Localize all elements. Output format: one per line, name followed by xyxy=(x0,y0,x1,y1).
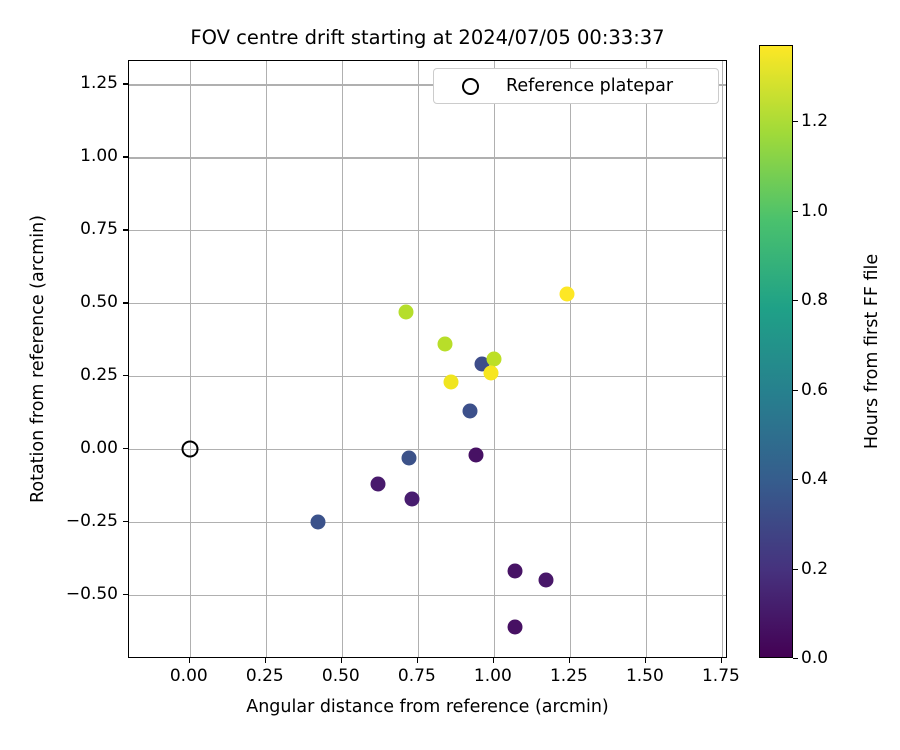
page-title: FOV centre drift starting at 2024/07/05 … xyxy=(128,26,727,49)
scatter-point xyxy=(444,374,459,389)
scatter-chart-figure: FOV centre drift starting at 2024/07/05 … xyxy=(0,0,900,750)
scatter-point xyxy=(438,336,453,351)
x-tick-label: 1.00 xyxy=(474,666,512,686)
x-tick-label: 0.25 xyxy=(246,666,284,686)
x-axis-label: Angular distance from reference (arcmin) xyxy=(128,697,727,717)
x-tick-mark xyxy=(569,658,570,663)
x-tick-mark xyxy=(721,658,722,663)
legend: Reference platepar xyxy=(433,68,719,104)
scatter-point xyxy=(398,304,413,319)
y-axis-label: Rotation from reference (arcmin) xyxy=(26,60,50,658)
x-tick-label: 0.00 xyxy=(170,666,208,686)
y-tick-mark xyxy=(123,83,128,84)
gridlines xyxy=(129,61,726,657)
y-tick-mark xyxy=(123,302,128,303)
y-tick-label: 0.50 xyxy=(80,292,118,312)
scatter-point xyxy=(508,564,523,579)
scatter-point xyxy=(559,287,574,302)
gridline-horizontal xyxy=(129,449,726,450)
gridline-horizontal xyxy=(129,522,726,523)
x-tick-label: 0.75 xyxy=(398,666,436,686)
scatter-point xyxy=(401,450,416,465)
scatter-point xyxy=(404,491,419,506)
scatter-point xyxy=(462,404,477,419)
colorbar-label: Hours from first FF file xyxy=(860,45,884,658)
scatter-point xyxy=(310,514,325,529)
gridline-vertical xyxy=(342,61,343,657)
y-tick-mark xyxy=(123,229,128,230)
x-tick-mark xyxy=(417,658,418,663)
y-tick-mark xyxy=(123,448,128,449)
x-tick-label: 1.75 xyxy=(702,666,740,686)
scatter-point xyxy=(508,619,523,634)
x-tick-label: 1.25 xyxy=(550,666,588,686)
scatter-point xyxy=(371,476,386,491)
colorbar-tick-mark xyxy=(793,569,798,570)
reference-platepar-marker xyxy=(181,440,198,457)
y-tick-label: 1.00 xyxy=(80,146,118,166)
y-tick-mark xyxy=(123,521,128,522)
x-tick-mark xyxy=(645,658,646,663)
scatter-point xyxy=(486,351,501,366)
gridline-vertical xyxy=(570,61,571,657)
colorbar-tick-mark xyxy=(793,121,798,122)
gridline-horizontal xyxy=(129,376,726,377)
open-circle-icon xyxy=(462,78,479,95)
x-tick-mark xyxy=(493,658,494,663)
x-tick-mark xyxy=(265,658,266,663)
colorbar-tick-mark xyxy=(793,658,798,659)
colorbar-tick-mark xyxy=(793,390,798,391)
plot-area xyxy=(128,60,727,658)
gridline-horizontal xyxy=(129,230,726,231)
colorbar xyxy=(759,45,793,658)
legend-item-label: Reference platepar xyxy=(506,76,673,96)
colorbar-tick-label: 0.6 xyxy=(801,380,828,400)
colorbar-tick-label: 0.0 xyxy=(801,648,828,668)
scatter-point xyxy=(468,447,483,462)
colorbar-tick-label: 1.0 xyxy=(801,201,828,221)
colorbar-tick-mark xyxy=(793,479,798,480)
colorbar-tick-label: 0.2 xyxy=(801,559,828,579)
gridline-horizontal xyxy=(129,157,726,158)
legend-marker-cell xyxy=(434,78,506,95)
y-tick-label: 0.00 xyxy=(80,438,118,458)
scatter-point xyxy=(538,573,553,588)
y-tick-label: −0.25 xyxy=(66,511,118,531)
gridline-vertical xyxy=(190,61,191,657)
gridline-vertical xyxy=(266,61,267,657)
y-tick-mark xyxy=(123,594,128,595)
gridline-vertical xyxy=(646,61,647,657)
x-tick-mark xyxy=(189,658,190,663)
colorbar-tick-mark xyxy=(793,300,798,301)
colorbar-tick-label: 1.2 xyxy=(801,111,828,131)
y-tick-mark xyxy=(123,375,128,376)
colorbar-tick-label: 0.8 xyxy=(801,290,828,310)
colorbar-tick-mark xyxy=(793,211,798,212)
x-tick-mark xyxy=(341,658,342,663)
y-tick-label: −0.50 xyxy=(66,584,118,604)
colorbar-tick-label: 0.4 xyxy=(801,469,828,489)
gridline-horizontal xyxy=(129,595,726,596)
gridline-vertical xyxy=(722,61,723,657)
y-tick-label: 1.25 xyxy=(80,73,118,93)
gridline-horizontal xyxy=(129,303,726,304)
y-tick-label: 0.75 xyxy=(80,219,118,239)
x-tick-label: 0.50 xyxy=(322,666,360,686)
gridline-vertical xyxy=(418,61,419,657)
y-tick-mark xyxy=(123,156,128,157)
y-tick-label: 0.25 xyxy=(80,365,118,385)
x-tick-label: 1.50 xyxy=(626,666,664,686)
scatter-point xyxy=(483,366,498,381)
